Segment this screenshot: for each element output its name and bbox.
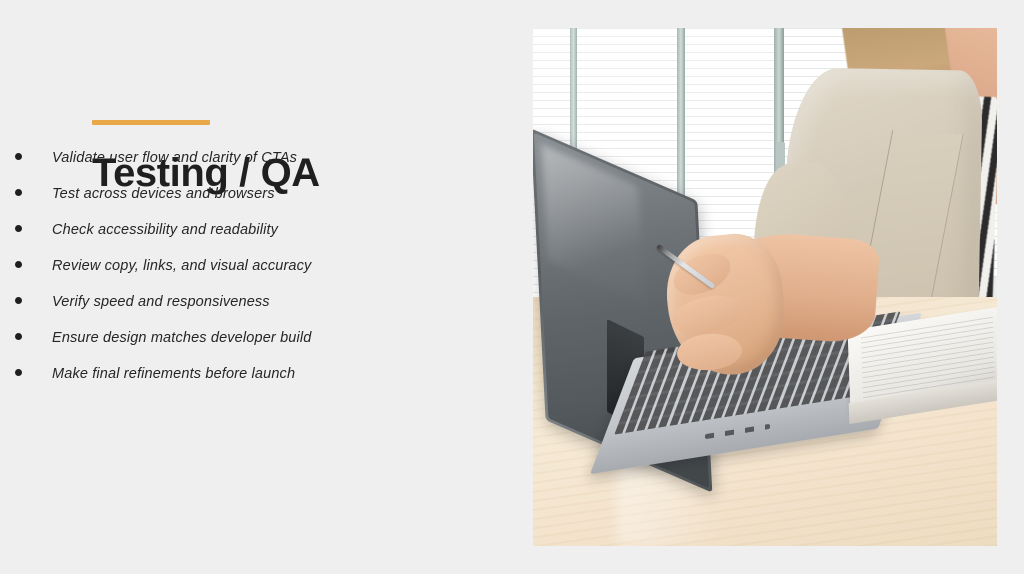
bullet-text: Review copy, links, and visual accuracy	[52, 258, 311, 274]
bullet-text: Check accessibility and readability	[52, 222, 278, 238]
bullet-dot-icon	[15, 365, 52, 378]
bullet-list: Validate user flow and clarity of CTAs T…	[15, 150, 395, 402]
bullet-text: Ensure design matches developer build	[52, 330, 311, 346]
list-item: Validate user flow and clarity of CTAs	[15, 150, 395, 186]
bullet-dot-icon	[15, 293, 52, 306]
title-accent-bar	[92, 120, 210, 125]
bullet-dot-icon	[15, 257, 52, 270]
bullet-dot-icon	[15, 221, 52, 234]
photo-scene	[533, 28, 997, 546]
list-item: Make final refinements before launch	[15, 366, 395, 402]
slide-photo	[533, 28, 997, 546]
list-item: Review copy, links, and visual accuracy	[15, 258, 395, 294]
bullet-dot-icon	[15, 329, 52, 342]
list-item: Ensure design matches developer build	[15, 330, 395, 366]
bullet-text: Validate user flow and clarity of CTAs	[52, 150, 297, 166]
list-item: Verify speed and responsiveness	[15, 294, 395, 330]
bullet-text: Test across devices and browsers	[52, 186, 275, 202]
slide-canvas: Testing / QA Validate user flow and clar…	[0, 0, 1024, 574]
bullet-text: Make final refinements before launch	[52, 366, 295, 382]
bullet-dot-icon	[15, 149, 52, 162]
bullet-dot-icon	[15, 185, 52, 198]
window-latch	[776, 142, 785, 168]
list-item: Check accessibility and readability	[15, 222, 395, 258]
bullet-text: Verify speed and responsiveness	[52, 294, 270, 310]
list-item: Test across devices and browsers	[15, 186, 395, 222]
